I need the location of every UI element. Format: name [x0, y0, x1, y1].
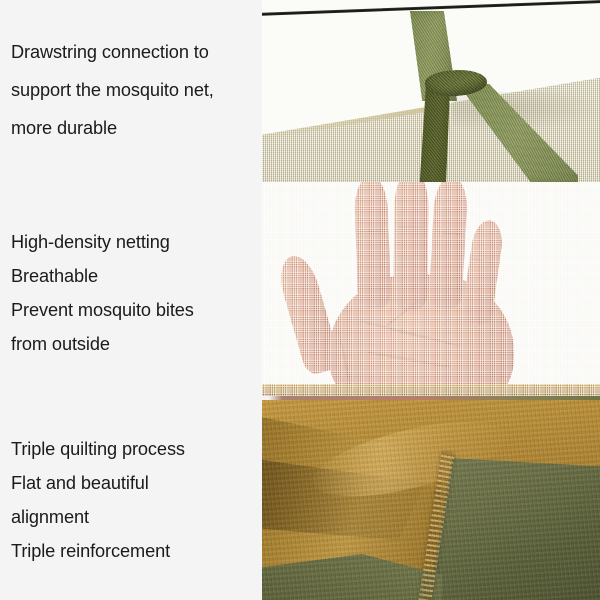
feature-line: Triple reinforcement [11, 534, 263, 568]
sage-panel-right [428, 458, 600, 600]
fabric-hem-strip [262, 384, 600, 396]
feature-line: more durable [11, 109, 263, 147]
feature-line: support the mosquito net, [11, 71, 263, 109]
panel-top-edge-strip [262, 396, 600, 400]
feature-line: alignment [11, 500, 263, 534]
feature-line: Triple quilting process [11, 432, 263, 466]
photo-quilted-fabric [262, 396, 600, 600]
feature-line: Flat and beautiful [11, 466, 263, 500]
hand-index-finger [354, 182, 392, 309]
feature-line: High-density netting [11, 225, 263, 259]
photo-hand-behind-netting [262, 182, 600, 396]
feature-text-netting: High-density netting Breathable Prevent … [11, 225, 263, 361]
feature-line: Prevent mosquito bites [11, 293, 263, 327]
feature-line: from outside [11, 327, 263, 361]
hand-middle-finger [393, 182, 428, 310]
hand-ring-finger [429, 182, 469, 309]
product-photo-column [262, 0, 600, 600]
feature-text-drawstring: Drawstring connection to support the mos… [11, 33, 263, 147]
product-feature-infographic: Drawstring connection to support the mos… [0, 0, 600, 600]
feature-text-column: Drawstring connection to support the mos… [0, 0, 262, 600]
feature-line: Breathable [11, 259, 263, 293]
feature-line: Drawstring connection to [11, 33, 263, 71]
feature-text-quilting: Triple quilting process Flat and beautif… [11, 432, 263, 568]
photo-strap-on-cord [262, 0, 600, 182]
